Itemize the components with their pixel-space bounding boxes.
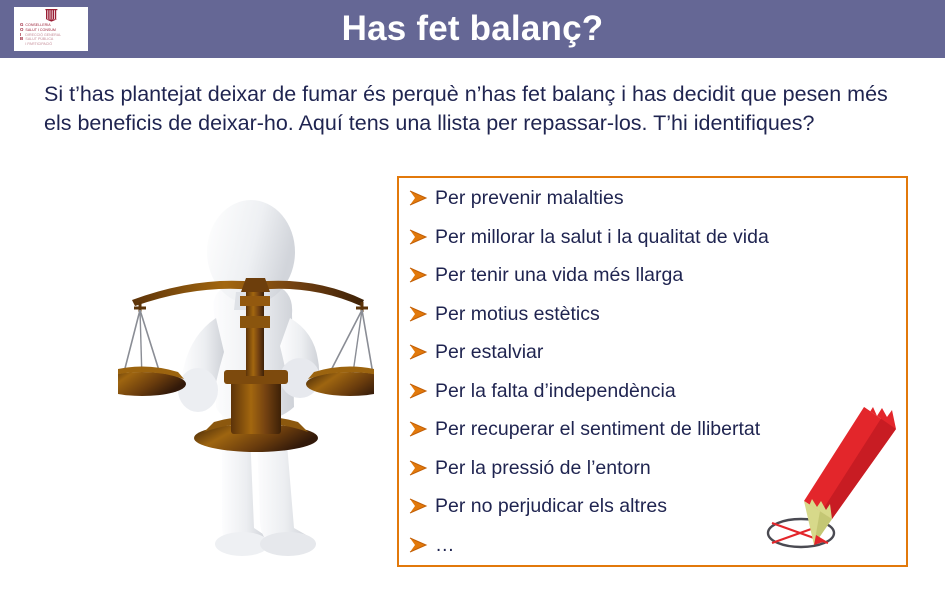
list-item: Per estalviar: [409, 341, 900, 380]
header-band: Has fet balanç?: [0, 0, 945, 58]
logo-line-2: SALUT I CONSUM: [25, 28, 61, 33]
list-item: Per motius estètics: [409, 303, 900, 342]
arrow-bullet-icon: [409, 267, 435, 283]
arrow-bullet-icon: [409, 498, 435, 514]
list-item: Per tenir una vida més llarga: [409, 264, 900, 303]
list-item-label: Per estalviar: [435, 341, 543, 363]
arrow-bullet-icon: [409, 190, 435, 206]
list-item: Per la pressió de l’entorn: [409, 457, 900, 496]
arrow-bullet-icon: [409, 306, 435, 322]
benefits-list-box: Per prevenir malalties Per millorar la s…: [397, 176, 908, 567]
list-item: …: [409, 534, 900, 568]
list-item-label: …: [435, 534, 455, 556]
list-item: Per millorar la salut i la qualitat de v…: [409, 226, 900, 265]
list-item-label: Per la falta d’independència: [435, 380, 676, 402]
list-item-label: Per recuperar el sentiment de llibertat: [435, 418, 760, 440]
list-item: Per recuperar el sentiment de llibertat: [409, 418, 900, 457]
intro-paragraph: Si t’has plantejat deixar de fumar és pe…: [44, 80, 912, 138]
list-item-label: Per tenir una vida més llarga: [435, 264, 683, 286]
list-item-label: Per no perjudicar els altres: [435, 495, 667, 517]
benefits-list: Per prevenir malalties Per millorar la s…: [409, 187, 900, 567]
goib-logo: GOIB CONSELLERIA SALUT I CONSUM DIRECCIÓ…: [14, 7, 88, 51]
list-item-label: Per millorar la salut i la qualitat de v…: [435, 226, 769, 248]
balance-scales-figure-icon: [118, 192, 374, 558]
arrow-bullet-icon: [409, 229, 435, 245]
list-item-label: Per la pressió de l’entorn: [435, 457, 651, 479]
list-item: Per prevenir malalties: [409, 187, 900, 226]
arrow-bullet-icon: [409, 537, 435, 553]
goib-emblem-icon: [17, 9, 85, 22]
arrow-bullet-icon: [409, 383, 435, 399]
list-item-label: Per motius estètics: [435, 303, 600, 325]
list-item-label: Per prevenir malalties: [435, 187, 624, 209]
arrow-bullet-icon: [409, 460, 435, 476]
logo-line-5: I PARTICIPACIÓ: [25, 42, 61, 47]
list-item: Per la falta d’independència: [409, 380, 900, 419]
arrow-bullet-icon: [409, 344, 435, 360]
list-item: Per no perjudicar els altres: [409, 495, 900, 534]
page-title: Has fet balanç?: [0, 0, 945, 58]
arrow-bullet-icon: [409, 421, 435, 437]
